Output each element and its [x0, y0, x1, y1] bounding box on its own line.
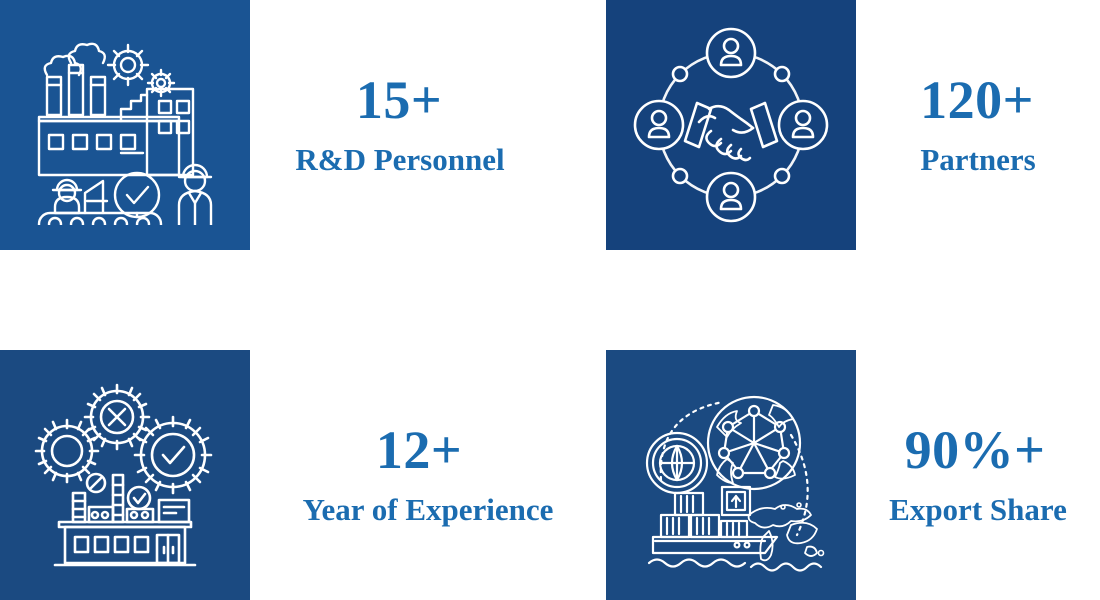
handshake-network-icon — [631, 25, 831, 225]
stat-label: Partners — [920, 141, 1035, 178]
stat-number: 15+ — [356, 72, 442, 129]
stat-text-partners: 120+ Partners — [856, 0, 1100, 250]
stat-text-export-share: 90%+ Export Share — [856, 350, 1100, 600]
stat-label: Year of Experience — [303, 491, 554, 528]
global-shipping-logistics-icon — [631, 375, 831, 575]
stat-text-rd-personnel: 15+ R&D Personnel — [250, 0, 550, 250]
stat-number: 120+ — [920, 72, 1034, 129]
factory-industry-icon — [25, 25, 225, 225]
factory-industry-icon-tile — [0, 0, 250, 250]
stat-number: 90%+ — [905, 422, 1046, 479]
stat-text-years-experience: 12+ Year of Experience — [250, 350, 606, 600]
global-shipping-logistics-icon-tile — [606, 350, 856, 600]
stat-label: Export Share — [889, 491, 1067, 528]
gears-factory-quality-icon — [25, 375, 225, 575]
stat-card-export-share: 90%+ Export Share — [606, 350, 1100, 600]
stat-card-years-experience: 12+ Year of Experience — [0, 350, 606, 600]
stat-label: R&D Personnel — [295, 141, 504, 178]
gears-factory-quality-icon-tile — [0, 350, 250, 600]
stat-card-rd-personnel: 15+ R&D Personnel — [0, 0, 550, 250]
stat-card-partners: 120+ Partners — [606, 0, 1100, 250]
handshake-network-icon-tile — [606, 0, 856, 250]
stat-number: 12+ — [376, 422, 462, 479]
stats-banner: 15+ R&D Personnel — [0, 0, 1100, 600]
